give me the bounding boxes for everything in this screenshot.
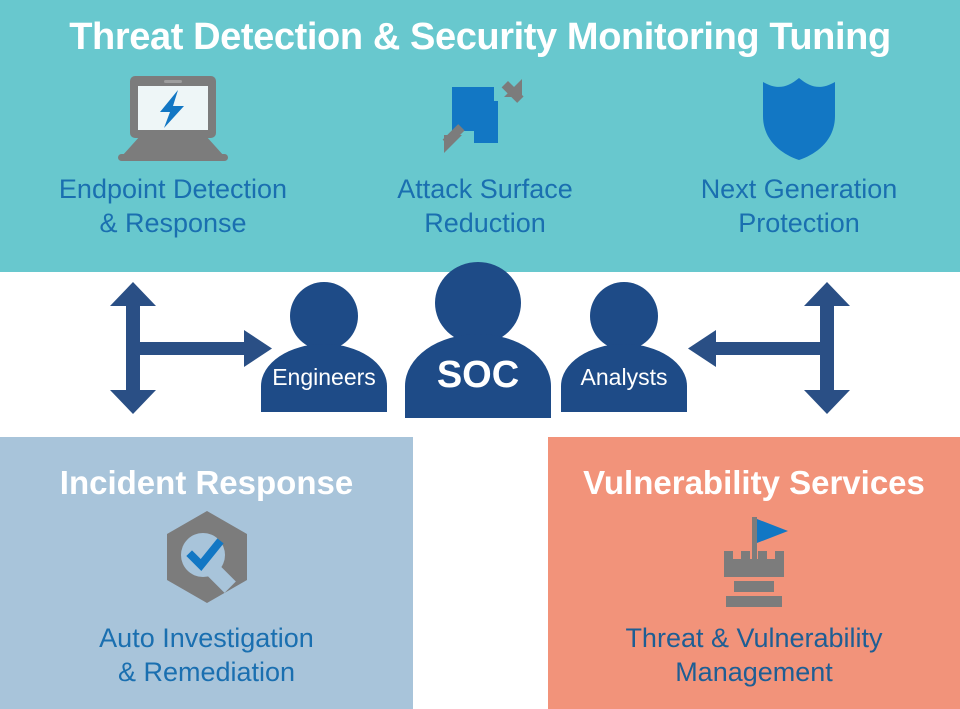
person-label: SOC — [437, 354, 519, 418]
top-item-attack-surface-reduction[interactable]: Attack Surface Reduction — [345, 70, 625, 240]
top-item-label: Endpoint Detection & Response — [8, 172, 338, 240]
label-line-1: Endpoint Detection — [59, 174, 287, 204]
person-analysts[interactable]: Analysts — [558, 282, 690, 412]
label-line-2: & Response — [99, 208, 246, 238]
label-line-1: Next Generation — [701, 174, 898, 204]
person-label: Engineers — [272, 364, 376, 412]
person-body: Engineers — [261, 344, 387, 412]
person-body: Analysts — [561, 344, 687, 412]
label-line-2: & Remediation — [118, 657, 295, 687]
person-soc[interactable]: SOC — [404, 262, 552, 418]
hexagon-magnifier-check-icon — [0, 507, 413, 611]
label-line-1: Attack Surface — [397, 174, 573, 204]
panel-title: Vulnerability Services — [548, 463, 960, 503]
panel-vulnerability-services[interactable]: Vulnerability Services Threat & Vulnerab… — [548, 437, 960, 709]
panel-title: Incident Response — [0, 463, 413, 503]
person-head — [590, 282, 658, 350]
person-head — [435, 262, 521, 344]
top-item-next-generation-protection[interactable]: Next Generation Protection — [648, 70, 950, 240]
arrow-right-group — [686, 280, 856, 416]
person-head — [290, 282, 358, 350]
label-line-1: Threat & Vulnerability — [625, 623, 882, 653]
laptop-lightning-icon — [8, 70, 338, 166]
panel-label: Auto Investigation & Remediation — [0, 621, 413, 689]
page-title: Threat Detection & Security Monitoring T… — [0, 14, 960, 60]
double-vertical-arrow-with-right-arrow-icon — [104, 280, 274, 416]
label-line-1: Auto Investigation — [99, 623, 314, 653]
fortress-flag-icon — [548, 507, 960, 611]
panel-label: Threat & Vulnerability Management — [548, 621, 960, 689]
arrow-left-group — [104, 280, 274, 416]
label-line-2: Management — [675, 657, 833, 687]
top-item-label: Next Generation Protection — [648, 172, 950, 240]
diagram-canvas: Threat Detection & Security Monitoring T… — [0, 0, 960, 709]
person-engineers[interactable]: Engineers — [258, 282, 390, 412]
top-item-endpoint-detection-response[interactable]: Endpoint Detection & Response — [8, 70, 338, 240]
person-label: Analysts — [581, 364, 668, 412]
square-inward-arrows-icon — [345, 70, 625, 166]
shield-icon — [648, 70, 950, 166]
panel-incident-response[interactable]: Incident Response Auto Investigation & R… — [0, 437, 413, 709]
double-vertical-arrow-with-left-arrow-icon — [686, 280, 856, 416]
label-line-2: Protection — [738, 208, 860, 238]
top-item-label: Attack Surface Reduction — [345, 172, 625, 240]
person-body: SOC — [405, 334, 551, 418]
label-line-2: Reduction — [424, 208, 546, 238]
